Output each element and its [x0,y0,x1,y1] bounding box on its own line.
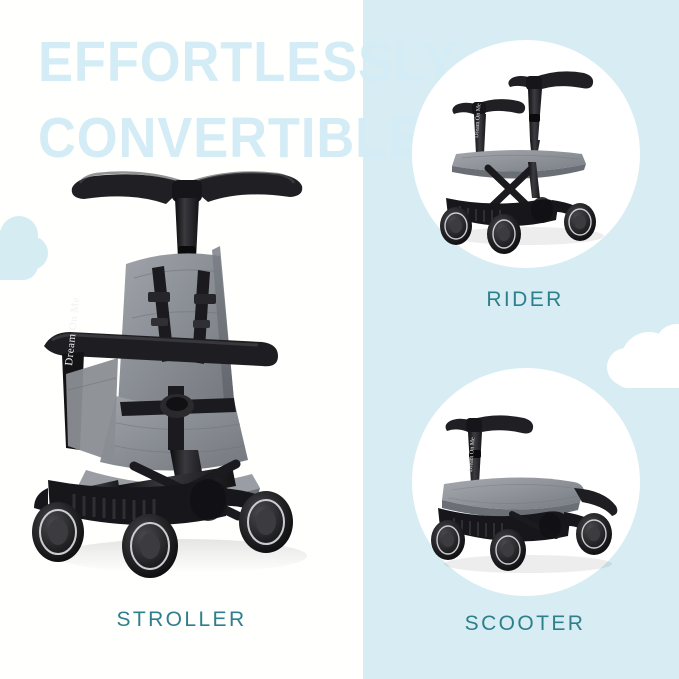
headline-line-1: EFFORTLESSLY [38,30,458,94]
wheel-scooter-rear-left [431,520,465,560]
caption-rider: RIDER [400,288,650,312]
product-feature-image: EFFORTLESSLY CONVERTIBLE [0,0,679,679]
wheel-scooter-front-left [490,529,526,571]
stroller-product-image: Dream On Me [22,150,342,590]
wheel-scooter-front-right [576,513,612,555]
wheel-front-left [122,514,178,578]
wheel-rider-rear-left [440,207,472,245]
caption-stroller: STROLLER [0,608,363,632]
wheel-rear-right [190,479,226,521]
rider-product-image: Dream On Me [432,58,622,250]
wheel-rider-front-right [564,203,596,241]
wheel-scooter-rear-right [539,513,561,539]
caption-scooter: SCOOTER [400,612,650,636]
wheel-rider-rear-right [531,197,553,223]
wheel-rear-left [32,502,84,562]
scooter-product-image: Dream On Me [428,392,626,578]
wheel-rider-front-left [487,214,521,254]
wheel-front-right [239,491,293,553]
